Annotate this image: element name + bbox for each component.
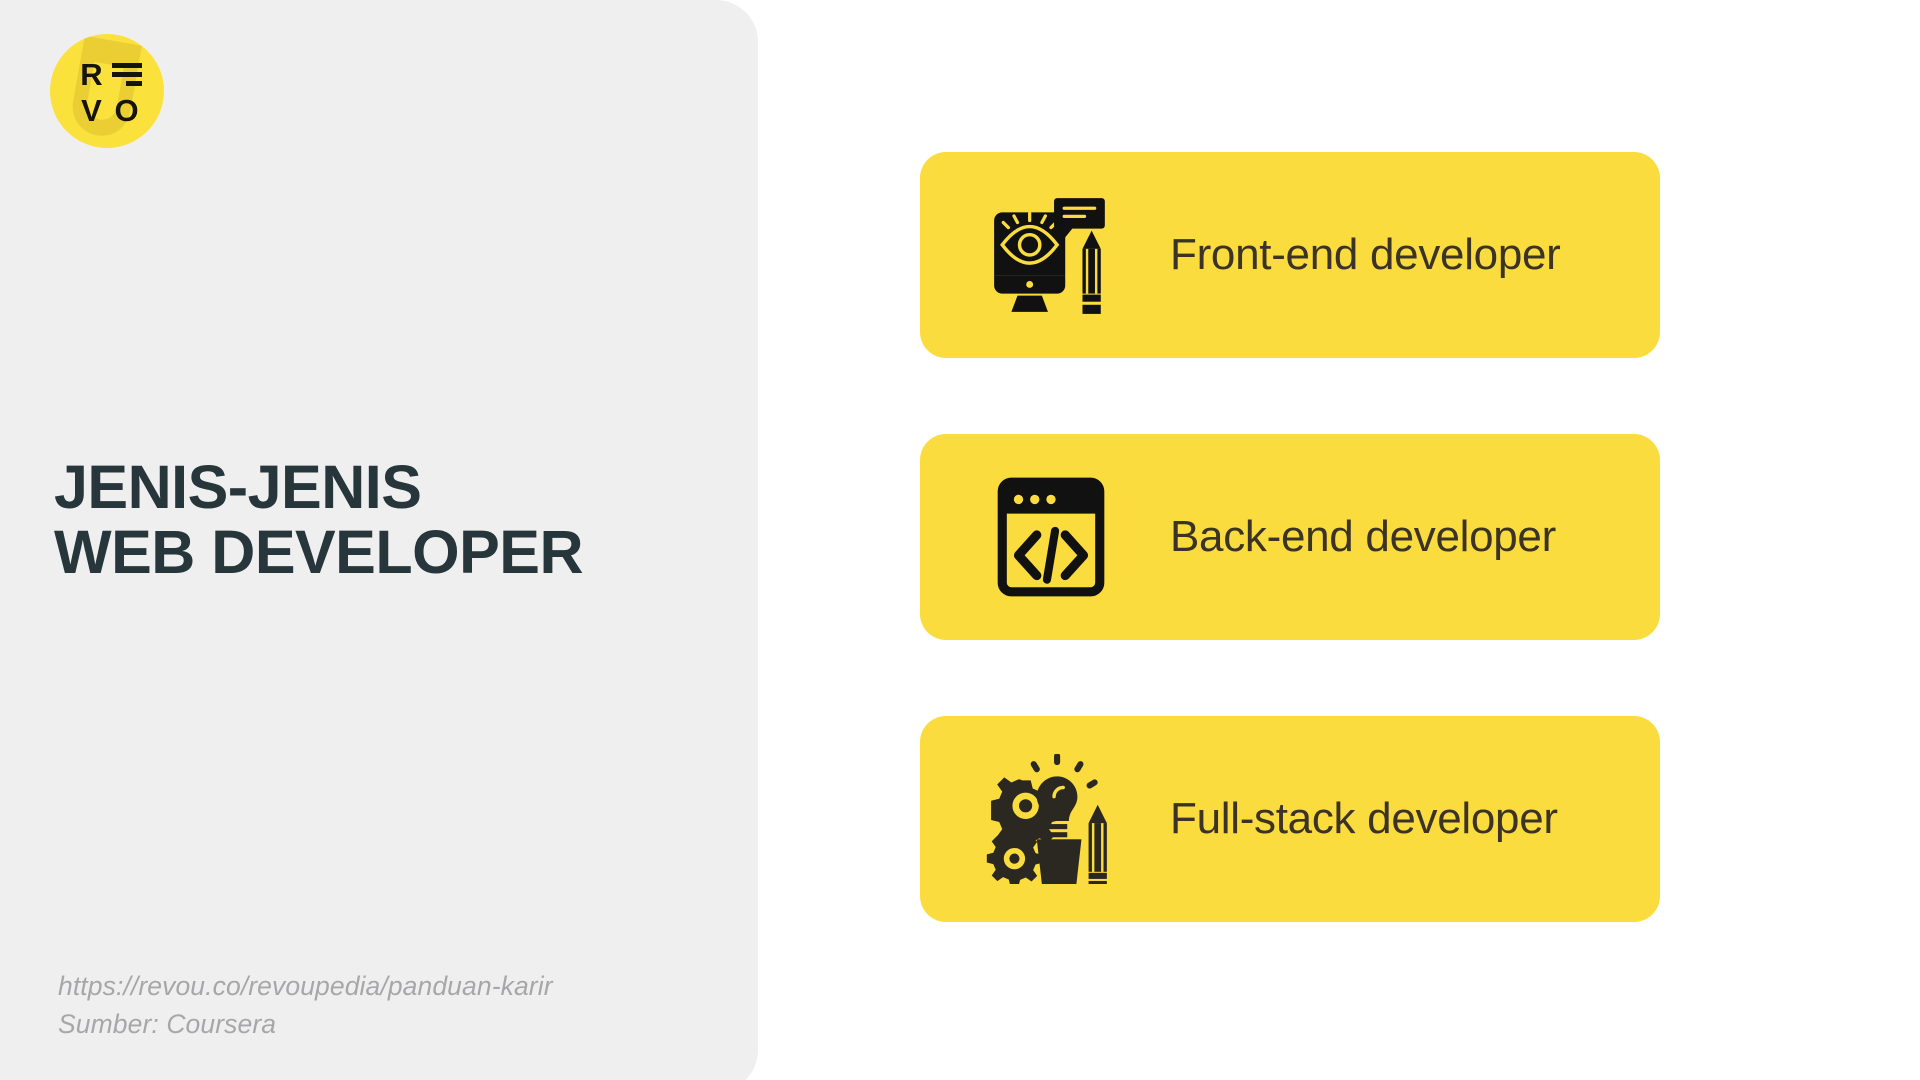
card-label: Back-end developer	[1170, 512, 1556, 562]
logo-letter-grid: R V O	[50, 34, 164, 148]
page-title-line-2: WEB DEVELOPER	[54, 520, 714, 585]
page-title: JENIS-JENIS WEB DEVELOPER	[54, 455, 714, 586]
footer-url: https://revou.co/revoupedia/panduan-kari…	[58, 968, 553, 1006]
footer-credits: https://revou.co/revoupedia/panduan-kari…	[58, 968, 553, 1043]
code-window-icon	[976, 462, 1126, 612]
logo-letter-v: V	[81, 95, 102, 126]
card-back-end-developer[interactable]: Back-end developer	[920, 434, 1660, 640]
slide-canvas: R V O JENIS-JENIS WEB DEVELOPER https://…	[0, 0, 1920, 1080]
gears-bulb-pencil-icon	[976, 744, 1126, 894]
monitor-eye-pencil-icon	[976, 180, 1126, 330]
card-front-end-developer[interactable]: Front-end developer	[920, 152, 1660, 358]
logo-letter-o: O	[114, 95, 138, 126]
card-label: Full-stack developer	[1170, 794, 1558, 844]
card-label: Front-end developer	[1170, 230, 1561, 280]
logo-letter-e	[112, 63, 142, 86]
page-title-line-1: JENIS-JENIS	[54, 455, 714, 520]
developer-type-list: Front-end developer Back-	[920, 152, 1660, 922]
revou-logo: R V O	[50, 34, 164, 148]
footer-source: Sumber: Coursera	[58, 1006, 553, 1044]
card-full-stack-developer[interactable]: Full-stack developer	[920, 716, 1660, 922]
logo-letter-r: R	[80, 59, 102, 90]
